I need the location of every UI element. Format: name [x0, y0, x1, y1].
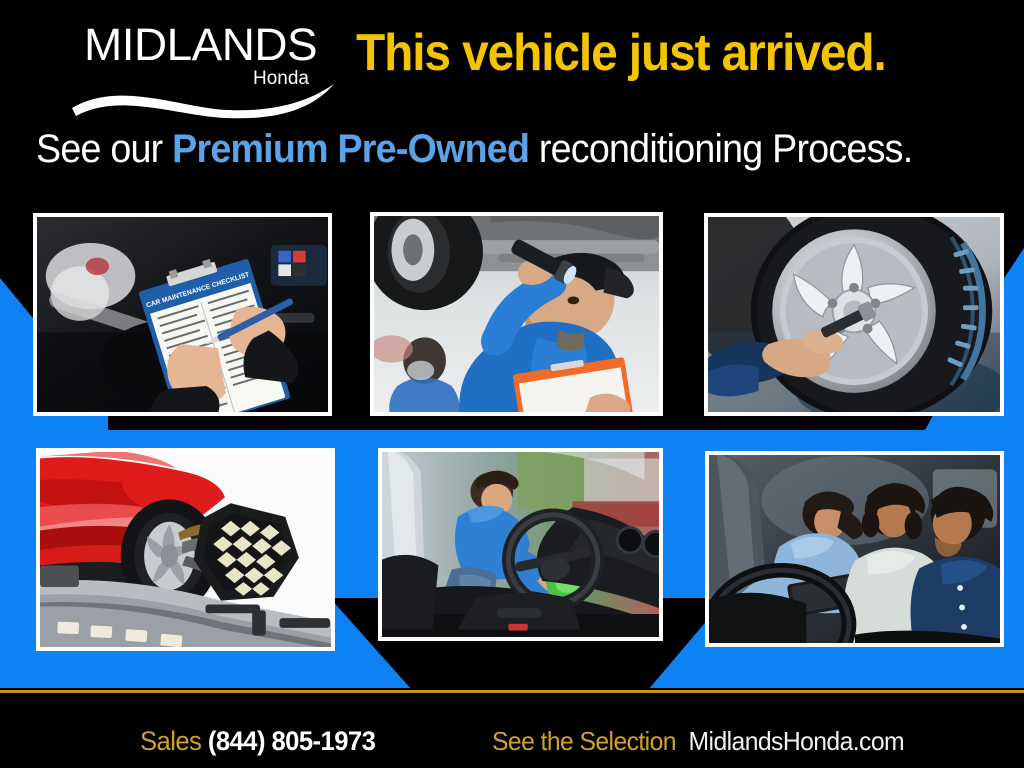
page-title: This vehicle just arrived.: [356, 24, 886, 82]
gallery-tile[interactable]: [370, 212, 663, 416]
selection-link[interactable]: See the Selection MidlandsHonda.com: [492, 726, 904, 756]
logo-wordmark: MIDLANDS: [84, 22, 317, 67]
gallery-tile[interactable]: [378, 448, 663, 641]
subtitle-highlight: Premium Pre-Owned: [172, 127, 529, 171]
sales-contact[interactable]: Sales (844) 805-1973: [140, 726, 375, 756]
gallery-tile[interactable]: [704, 213, 1004, 416]
photo-undercarriage-inspection: [374, 216, 659, 412]
photo-wheel-tire-service: [708, 217, 1000, 412]
header-band: MIDLANDS Honda This vehicle just arrived…: [0, 0, 1024, 190]
selection-label: See the Selection: [492, 726, 676, 756]
subtitle-pre: See our: [36, 127, 172, 171]
gallery-tile[interactable]: CAR MAINTENANCE CHECKLIST: [33, 213, 332, 416]
website-url[interactable]: MidlandsHonda.com: [689, 726, 904, 756]
photo-interior-detailing: [382, 452, 659, 637]
logo-swoosh-icon: [68, 74, 340, 119]
subtitle-post: reconditioning Process.: [529, 127, 912, 171]
dealer-logo[interactable]: MIDLANDS Honda: [68, 22, 346, 97]
sales-label: Sales: [140, 726, 201, 756]
photo-maintenance-checklist: CAR MAINTENANCE CHECKLIST: [37, 217, 328, 412]
headline-text: This vehicle just arrived.: [356, 24, 886, 82]
photo-customer-delivery: [709, 455, 1000, 643]
sales-phone[interactable]: (844) 805-1973: [208, 726, 375, 756]
advertisement-canvas: MIDLANDS Honda This vehicle just arrived…: [0, 0, 1024, 768]
page-subtitle: See our Premium Pre-Owned reconditioning…: [36, 126, 912, 172]
gallery-tile[interactable]: [36, 448, 335, 651]
photo-wheel-alignment: [40, 452, 331, 647]
gallery-tile[interactable]: [705, 451, 1004, 647]
